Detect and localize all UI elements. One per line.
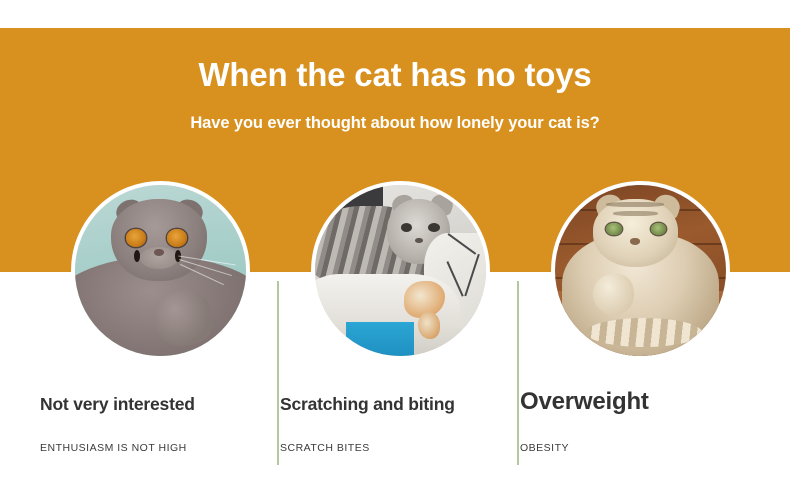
caption-title-2: Scratching and biting [280, 394, 520, 415]
page-title: When the cat has no toys [0, 57, 790, 93]
caption-subtitle-1: ENTHUSIASM IS NOT HIGH [40, 442, 280, 454]
photo-circle-not-very-interested [71, 181, 250, 360]
photo-circle-scratching-and-biting [311, 181, 490, 360]
column-divider-1 [277, 281, 279, 465]
cat-photo-grey-scottish-fold [75, 185, 246, 356]
cat-photo-overweight-tabby [555, 185, 726, 356]
caption-subtitle-2: SCRATCH BITES [280, 442, 520, 454]
photo-circle-overweight [551, 181, 730, 360]
caption-title-3: Overweight [520, 388, 760, 416]
cat-toys-poster: When the cat has no toys Have you ever t… [0, 0, 790, 503]
column-divider-2 [517, 281, 519, 465]
page-subtitle: Have you ever thought about how lonely y… [0, 114, 790, 133]
cat-photo-shredded-sofa [315, 185, 486, 356]
caption-title-1: Not very interested [40, 394, 280, 415]
caption-subtitle-3: OBESITY [520, 442, 760, 454]
